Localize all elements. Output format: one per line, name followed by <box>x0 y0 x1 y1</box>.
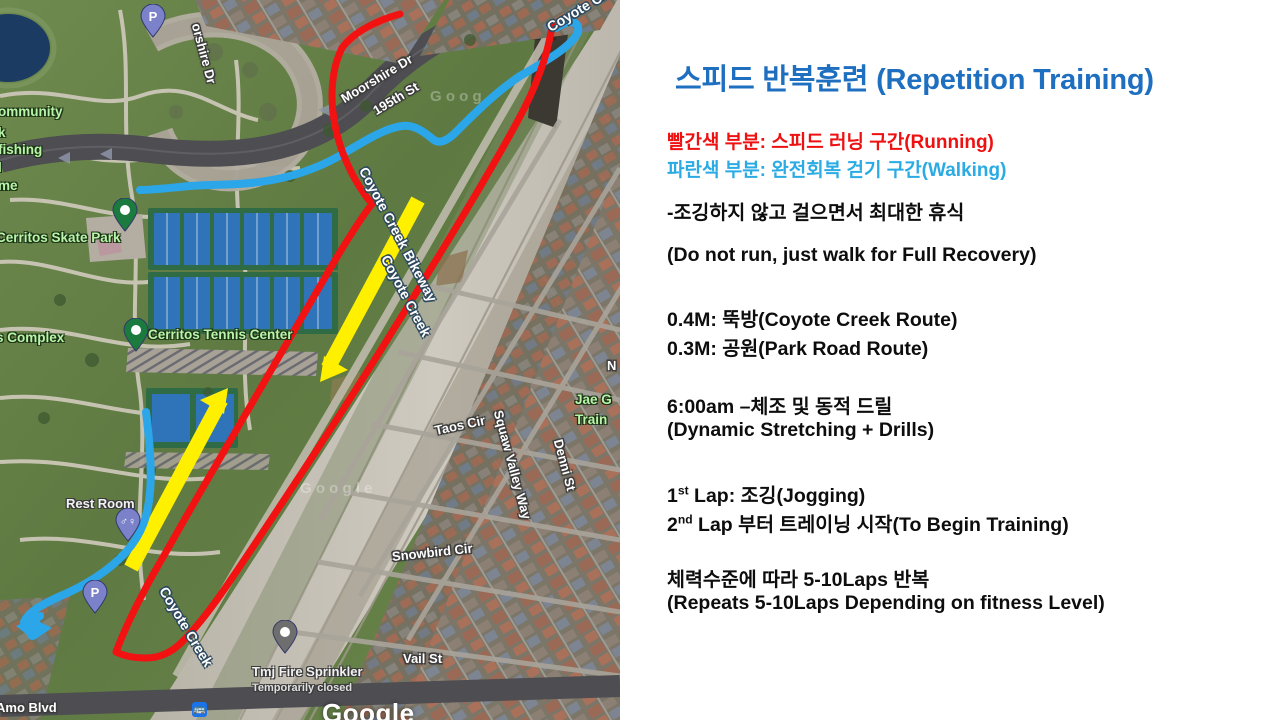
slide-root: G o o g l e G o o g orshire DrMoorshire … <box>0 0 1280 720</box>
map-pin-parking-north[interactable]: P <box>140 4 166 38</box>
legend-walking: 파란색 부분: 완전회복 걷기 구간(Walking) <box>667 155 1006 182</box>
svg-text:P: P <box>91 585 100 600</box>
map-pin-rest-room-pin[interactable]: ♂♀ <box>115 508 141 542</box>
map-pin-parking-south[interactable]: P <box>82 580 108 614</box>
route-map[interactable]: G o o g l e G o o g orshire DrMoorshire … <box>0 0 620 720</box>
body-line-route-park: 0.3M: 공원(Park Road Route) <box>667 332 928 361</box>
content-panel: 스피드 반복훈련 (Repetition Training) 빨간색 부분: 스… <box>620 0 1280 720</box>
google-watermark: Google <box>322 698 415 720</box>
body-line-recovery-en: (Do not run, just walk for Full Recovery… <box>667 244 1036 267</box>
svg-text:P: P <box>149 9 158 24</box>
body-line-recovery-ko: -조깅하지 않고 걸으면서 최대한 휴식 <box>667 196 964 225</box>
map-pin-tmj-pin[interactable] <box>272 620 298 654</box>
lap-second-number: 2 <box>667 514 678 536</box>
bus-stop-icon[interactable]: 🚌 <box>192 702 207 717</box>
lap-second-suffix: nd <box>678 513 693 527</box>
body-line-route-creek: 0.4M: 뚝방(Coyote Creek Route) <box>667 303 958 332</box>
lap-line-second: 2nd Lap 부터 트레이닝 시작(To Begin Training) <box>667 508 1069 537</box>
imagery-watermark-faint: G o o g l e <box>300 480 373 497</box>
body-line-lap-repeat-ko: 체력수준에 따라 5-10Laps 반복 <box>667 563 929 592</box>
lap-line-first: 1st Lap: 조깅(Jogging) <box>667 479 865 508</box>
lap-first-text: Lap: 조깅(Jogging) <box>689 485 866 507</box>
imagery-watermark-faint-2: G o o g <box>430 88 482 105</box>
map-pin-skate-park-pin[interactable] <box>112 198 138 232</box>
page-title: 스피드 반복훈련 (Repetition Training) <box>675 56 1154 98</box>
body-line-warmup-en: (Dynamic Stretching + Drills) <box>667 419 934 442</box>
body-line-lap-repeat-en: (Repeats 5-10Laps Depending on fitness L… <box>667 592 1105 615</box>
legend-running: 빨간색 부분: 스피드 러닝 구간(Running) <box>667 127 994 154</box>
svg-text:♂♀: ♂♀ <box>120 516 137 528</box>
map-pin-tennis-center-pin[interactable] <box>123 318 149 352</box>
lap-second-text: Lap 부터 트레이닝 시작(To Begin Training) <box>693 514 1069 536</box>
lap-first-suffix: st <box>678 484 689 498</box>
body-line-warmup-ko: 6:00am –체조 및 동적 드릴 <box>667 390 892 419</box>
lap-first-number: 1 <box>667 485 678 507</box>
